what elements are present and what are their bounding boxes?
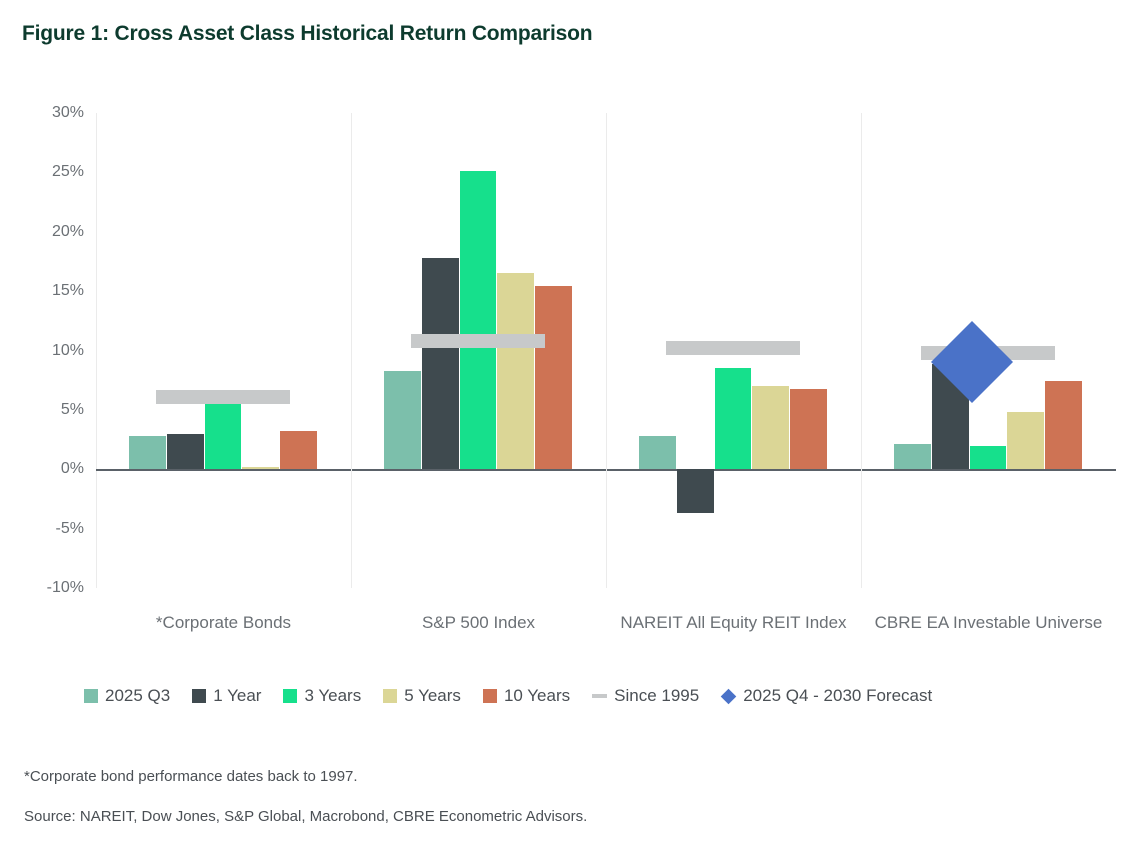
legend-item[interactable]: 2025 Q3	[84, 686, 170, 706]
legend-label: 10 Years	[504, 686, 570, 706]
legend-label: 1 Year	[213, 686, 261, 706]
legend-item[interactable]: 5 Years	[383, 686, 461, 706]
since-1995-band	[666, 341, 800, 355]
legend-swatch-line-icon	[592, 694, 607, 698]
y-axis-tick-label: 30%	[22, 104, 84, 122]
source-text: Source: NAREIT, Dow Jones, S&P Global, M…	[24, 808, 587, 825]
chart-legend: 2025 Q31 Year3 Years5 Years10 YearsSince…	[84, 686, 932, 706]
bar	[790, 389, 827, 470]
legend-swatch-square-icon	[283, 689, 297, 703]
bar-group	[96, 113, 351, 588]
bar	[384, 371, 421, 470]
legend-item[interactable]: Since 1995	[592, 686, 699, 706]
figure-title: Figure 1: Cross Asset Class Historical R…	[22, 22, 592, 46]
bar	[715, 368, 752, 469]
bar-group	[351, 113, 606, 588]
bar	[242, 467, 279, 469]
legend-swatch-square-icon	[483, 689, 497, 703]
y-axis-tick-label: 25%	[22, 163, 84, 181]
y-axis-tick-label: 5%	[22, 401, 84, 419]
y-axis-tick-label: 0%	[22, 460, 84, 478]
bar	[422, 258, 459, 469]
bar	[535, 286, 572, 469]
y-axis-tick-label: 15%	[22, 282, 84, 300]
bar	[970, 446, 1007, 470]
x-axis-category-label: NAREIT All Equity REIT Index	[606, 610, 861, 636]
x-axis-category-label: CBRE EA Investable Universe	[861, 610, 1116, 636]
legend-swatch-diamond-icon	[721, 688, 737, 704]
legend-label: 3 Years	[304, 686, 361, 706]
bar-group	[606, 113, 861, 588]
bar	[1045, 381, 1082, 469]
y-axis-tick-label: 10%	[22, 342, 84, 360]
x-axis-category-label: S&P 500 Index	[351, 610, 606, 636]
y-axis-tick-label: 20%	[22, 223, 84, 241]
bar	[894, 444, 931, 469]
legend-label: 2025 Q3	[105, 686, 170, 706]
legend-label: 2025 Q4 - 2030 Forecast	[743, 686, 932, 706]
bar	[752, 386, 789, 469]
bar	[1007, 412, 1044, 469]
footnote-text: *Corporate bond performance dates back t…	[24, 768, 358, 785]
bar	[460, 171, 497, 469]
legend-item[interactable]: 3 Years	[283, 686, 361, 706]
since-1995-band	[411, 334, 545, 348]
y-axis-tick-label: -5%	[22, 520, 84, 538]
bar	[205, 399, 242, 469]
bar	[639, 436, 676, 469]
legend-swatch-square-icon	[383, 689, 397, 703]
figure-container: Figure 1: Cross Asset Class Historical R…	[0, 0, 1124, 851]
bar	[280, 431, 317, 469]
bar	[497, 273, 534, 469]
since-1995-band	[156, 390, 290, 404]
legend-item[interactable]: 10 Years	[483, 686, 570, 706]
plot-area	[96, 113, 1116, 588]
x-axis-category-label: *Corporate Bonds	[96, 610, 351, 636]
bar	[677, 469, 714, 513]
bar	[167, 434, 204, 470]
legend-label: 5 Years	[404, 686, 461, 706]
legend-swatch-square-icon	[192, 689, 206, 703]
y-axis-tick-label: -10%	[22, 579, 84, 597]
legend-swatch-square-icon	[84, 689, 98, 703]
bar-group	[861, 113, 1116, 588]
bar	[129, 436, 166, 469]
legend-item[interactable]: 1 Year	[192, 686, 261, 706]
legend-label: Since 1995	[614, 686, 699, 706]
legend-item[interactable]: 2025 Q4 - 2030 Forecast	[721, 686, 932, 706]
